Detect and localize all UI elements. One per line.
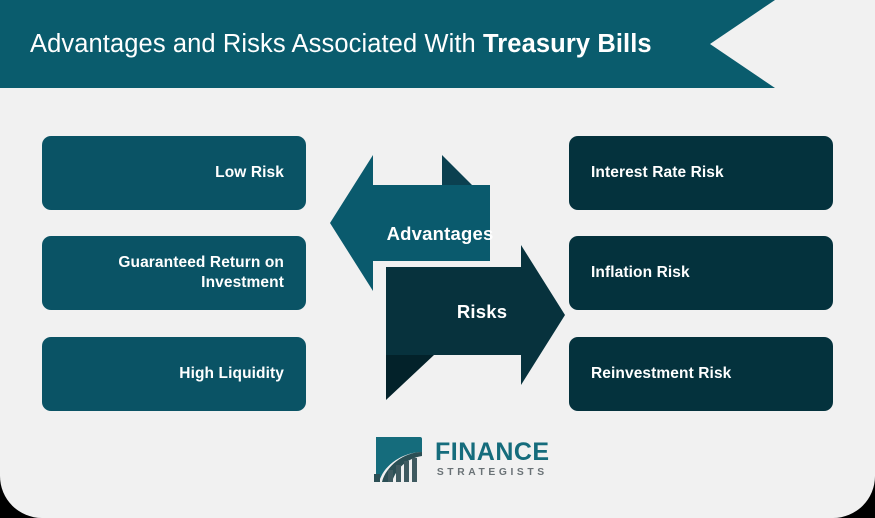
finance-strategists-logo-mark-icon (374, 434, 426, 484)
risk-box-2-label: Inflation Risk (591, 263, 690, 283)
risk-box-3-label: Reinvestment Risk (591, 364, 731, 384)
brand-logo-primary-text: FINANCE (435, 440, 550, 465)
page-title-emphasis: Treasury Bills (483, 30, 652, 58)
risks-arrow-label: Risks (402, 301, 562, 323)
page-title-normal: Advantages and Risks Associated With (30, 30, 483, 58)
arrow-diagram: Advantages Risks (330, 155, 565, 400)
risk-box-1-label: Interest Rate Risk (591, 163, 724, 183)
risk-box-2[interactable]: Inflation Risk (569, 236, 833, 310)
advantage-box-1[interactable]: Low Risk (42, 136, 306, 210)
arrow-diagram-svg (330, 155, 565, 400)
advantage-box-3[interactable]: High Liquidity (42, 337, 306, 411)
advantages-arrow-label: Advantages (360, 223, 520, 245)
advantage-box-1-label: Low Risk (215, 163, 284, 183)
page-title: Advantages and Risks Associated With Tre… (30, 0, 652, 88)
advantage-box-3-label: High Liquidity (179, 364, 284, 384)
risk-box-1[interactable]: Interest Rate Risk (569, 136, 833, 210)
risk-box-3[interactable]: Reinvestment Risk (569, 337, 833, 411)
brand-logo: FINANCE STRATEGISTS (374, 434, 550, 484)
advantage-box-2[interactable]: Guaranteed Return on Investment (42, 236, 306, 310)
brand-logo-secondary-text: STRATEGISTS (435, 468, 550, 478)
advantage-box-2-label: Guaranteed Return on Investment (60, 253, 284, 294)
brand-logo-wordmark: FINANCE STRATEGISTS (435, 440, 550, 478)
infographic-card: Advantages and Risks Associated With Tre… (0, 0, 875, 518)
